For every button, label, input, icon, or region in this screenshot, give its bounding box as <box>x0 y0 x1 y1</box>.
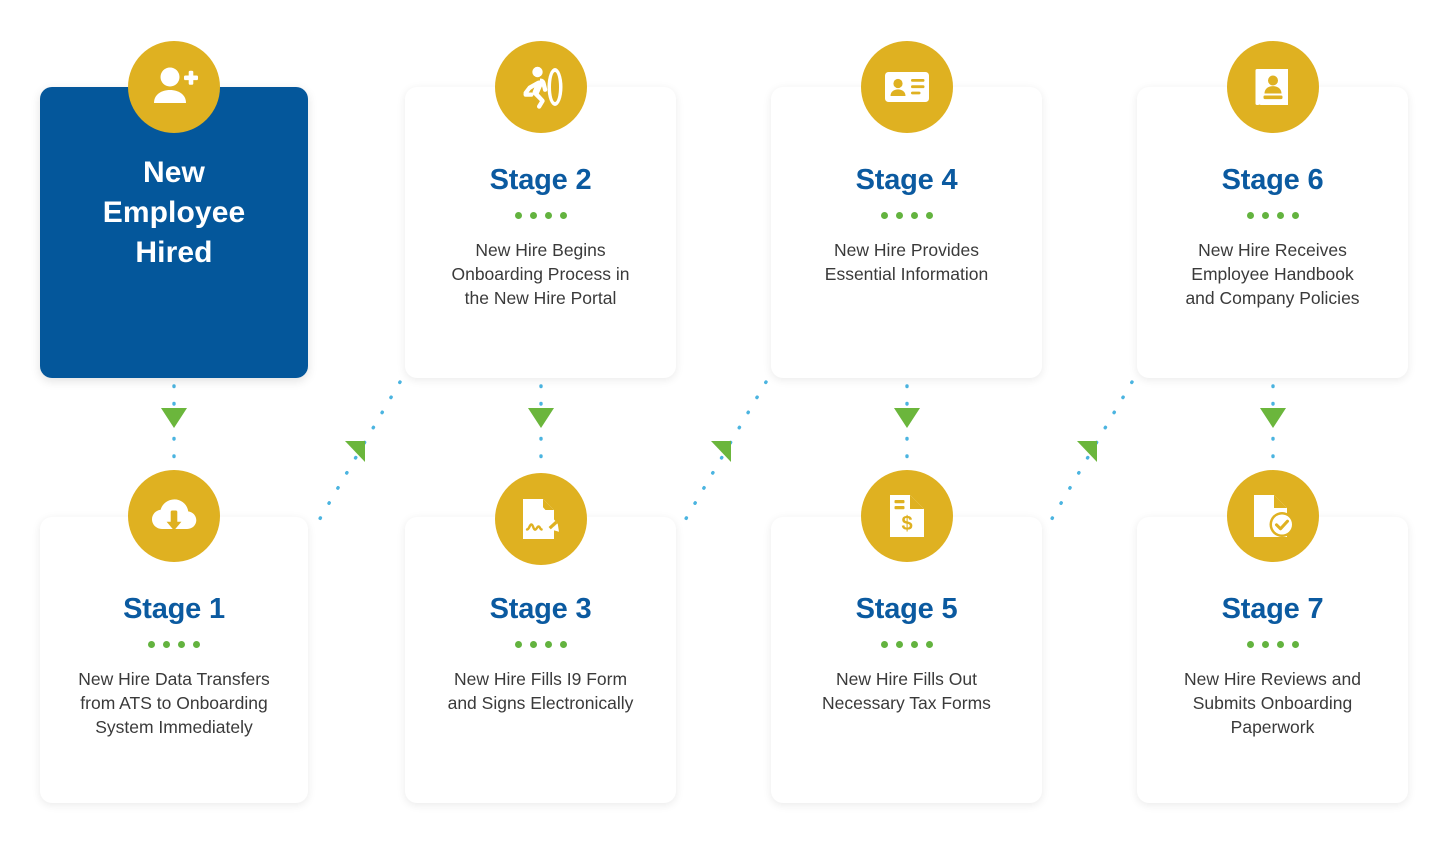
connector-stage-5-to-stage-6-arrow <box>1077 441 1097 462</box>
stage-5-description: New Hire Fills Out Necessary Tax Forms <box>785 667 1028 715</box>
person-running-through-door-icon <box>495 41 587 133</box>
hero-title-line: Hired <box>54 233 294 273</box>
description-line: the New Hire Portal <box>419 286 662 310</box>
description-line: Onboarding Process in <box>419 262 662 286</box>
description-line: New Hire Provides <box>785 238 1028 262</box>
hero-title-line: New <box>54 153 294 193</box>
description-line: Submits Onboarding <box>1151 691 1394 715</box>
stage-5-dots <box>785 641 1028 648</box>
hero-title: New Employee Hired <box>54 153 294 273</box>
stage-1-title: Stage 1 <box>54 595 294 624</box>
stage-7-title: Stage 7 <box>1151 595 1394 624</box>
description-line: New Hire Receives <box>1151 238 1394 262</box>
description-line: Necessary Tax Forms <box>785 691 1028 715</box>
hero-title-line: Employee <box>54 193 294 233</box>
description-line: Essential Information <box>785 262 1028 286</box>
stage-7-dots <box>1151 641 1394 648</box>
stage-2-description: New Hire Begins Onboarding Process in th… <box>419 238 662 310</box>
description-line: Employee Handbook <box>1151 262 1394 286</box>
description-line: from ATS to Onboarding <box>54 691 294 715</box>
stage-4-description: New Hire Provides Essential Information <box>785 238 1028 286</box>
description-line: New Hire Reviews and <box>1151 667 1394 691</box>
stage-6-dots <box>1151 212 1394 219</box>
description-line: System Immediately <box>54 715 294 739</box>
description-line: New Hire Fills Out <box>785 667 1028 691</box>
stage-4-dots <box>785 212 1028 219</box>
connector-stage-3-to-stage-4-arrow <box>711 441 731 462</box>
connector-stage-4-to-stage-5-arrow <box>894 408 920 428</box>
connector-stage-6-to-stage-7-arrow <box>1260 408 1286 428</box>
description-line: New Hire Data Transfers <box>54 667 294 691</box>
stage-2-dots <box>419 212 662 219</box>
description-line: New Hire Begins <box>419 238 662 262</box>
stage-1-dots <box>54 641 294 648</box>
svg-text:$: $ <box>901 513 912 535</box>
onboarding-process-diagram: New Employee Hired Stage 2 New Hire Begi… <box>0 0 1444 862</box>
stage-7-description: New Hire Reviews and Submits Onboarding … <box>1151 667 1394 739</box>
stage-5-title: Stage 5 <box>785 595 1028 624</box>
description-line: Paperwork <box>1151 715 1394 739</box>
connector-stage-5-to-stage-6-line <box>1050 382 1132 522</box>
document-check-icon <box>1227 470 1319 562</box>
connector-stage-1-to-stage-2-arrow <box>345 441 365 462</box>
stage-6-description: New Hire Receives Employee Handbook and … <box>1151 238 1394 310</box>
connector-stage-1-to-stage-2-line <box>318 382 400 522</box>
description-line: and Company Policies <box>1151 286 1394 310</box>
stage-3-title: Stage 3 <box>419 595 662 624</box>
stage-2-title: Stage 2 <box>419 166 662 195</box>
id-card-icon <box>861 41 953 133</box>
tax-document-dollar-icon: $ <box>861 470 953 562</box>
description-line: and Signs Electronically <box>419 691 662 715</box>
employee-handbook-icon <box>1227 41 1319 133</box>
cloud-download-icon <box>128 470 220 562</box>
connector-stage-3-to-stage-4-line <box>684 382 766 522</box>
connector-stage-2-to-stage-3-arrow <box>528 408 554 428</box>
document-signature-pen-icon <box>495 473 587 565</box>
stage-1-description: New Hire Data Transfers from ATS to Onbo… <box>54 667 294 739</box>
user-plus-icon <box>128 41 220 133</box>
stage-4-title: Stage 4 <box>785 166 1028 195</box>
connector-hero-to-stage-1-arrow <box>161 408 187 428</box>
stage-3-dots <box>419 641 662 648</box>
stage-3-description: New Hire Fills I9 Form and Signs Electro… <box>419 667 662 715</box>
stage-6-title: Stage 6 <box>1151 166 1394 195</box>
description-line: New Hire Fills I9 Form <box>419 667 662 691</box>
